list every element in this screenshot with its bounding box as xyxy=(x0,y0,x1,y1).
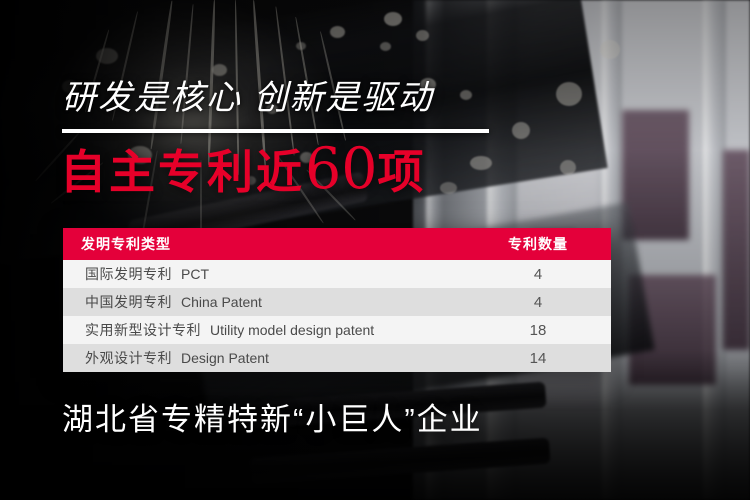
cell-patent-type: 国际发明专利PCT xyxy=(63,260,479,288)
patent-type-en: China Patent xyxy=(181,294,262,310)
table-row: 中国发明专利China Patent 4 xyxy=(63,288,611,316)
table-body: 国际发明专利PCT 4 中国发明专利China Patent 4 实用新型设计专… xyxy=(63,260,611,372)
cell-patent-type: 外观设计专利Design Patent xyxy=(63,344,479,372)
patent-type-cn: 国际发明专利 xyxy=(85,266,172,282)
banner-image: 研发是核心 创新是驱动 自主专利近60项 发明专利类型 专利数量 国际发明专利P… xyxy=(0,0,750,500)
cell-patent-count: 18 xyxy=(479,316,611,344)
table-header-row: 发明专利类型 专利数量 xyxy=(63,228,611,260)
cell-patent-count: 4 xyxy=(479,288,611,316)
headline-top: 研发是核心 创新是驱动 xyxy=(62,78,433,118)
patent-type-cn: 中国发明专利 xyxy=(85,294,172,310)
column-header-count: 专利数量 xyxy=(479,228,611,260)
cell-patent-count: 14 xyxy=(479,344,611,372)
patent-type-en: Utility model design patent xyxy=(210,322,374,338)
table-head: 发明专利类型 专利数量 xyxy=(63,228,611,260)
patent-type-en: Design Patent xyxy=(181,350,269,366)
column-header-type: 发明专利类型 xyxy=(63,228,479,260)
cell-patent-type: 实用新型设计专利Utility model design patent xyxy=(63,316,479,344)
headline-main-prefix: 自主专利近 xyxy=(60,146,305,198)
table-row: 国际发明专利PCT 4 xyxy=(63,260,611,288)
headline-main-number: 60 xyxy=(305,136,378,202)
headline-main-suffix: 项 xyxy=(378,146,427,198)
footer-tagline: 湖北省专精特新“小巨人”企业 xyxy=(62,401,483,439)
table-row: 实用新型设计专利Utility model design patent 18 xyxy=(63,316,611,344)
cell-patent-count: 4 xyxy=(479,260,611,288)
patent-table: 发明专利类型 专利数量 国际发明专利PCT 4 中国发明专利China Pate… xyxy=(63,228,611,372)
patent-type-cn: 实用新型设计专利 xyxy=(85,322,201,338)
cell-patent-type: 中国发明专利China Patent xyxy=(63,288,479,316)
headline-divider-rule xyxy=(62,129,489,133)
patent-type-cn: 外观设计专利 xyxy=(85,350,172,366)
patent-type-en: PCT xyxy=(181,266,209,282)
headline-main: 自主专利近60项 xyxy=(60,141,427,200)
table-row: 外观设计专利Design Patent 14 xyxy=(63,344,611,372)
